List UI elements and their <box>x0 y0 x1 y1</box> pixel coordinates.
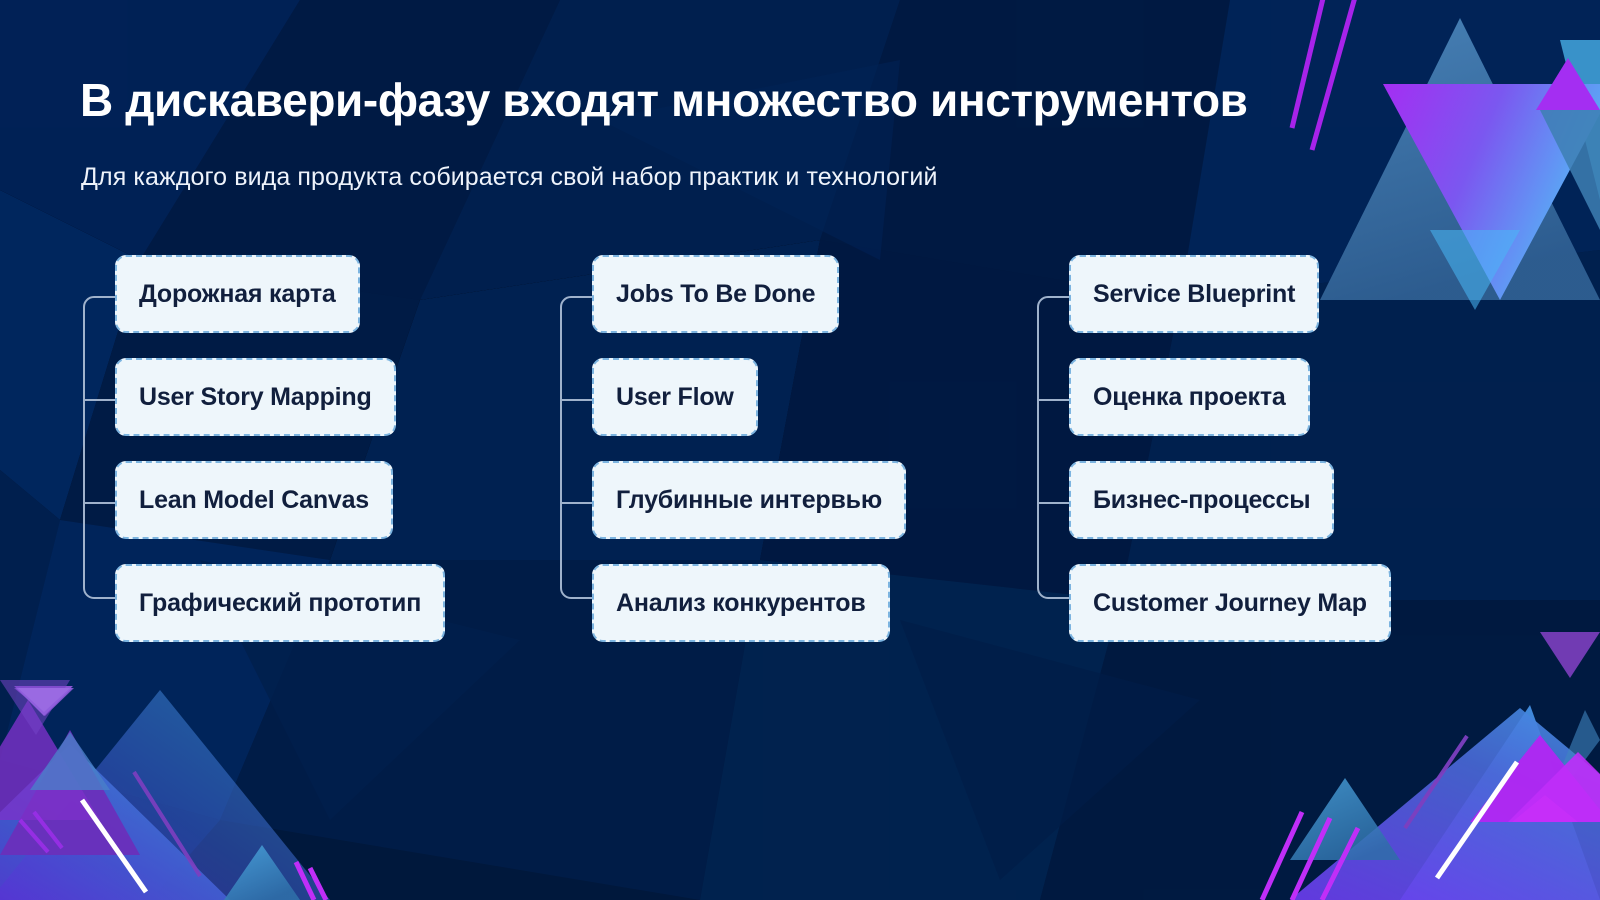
card-row: User Flow <box>592 358 906 436</box>
card-row: Дорожная карта <box>115 255 445 333</box>
card-row: Бизнес-процессы <box>1069 461 1391 539</box>
card-row: Глубинные интервью <box>592 461 906 539</box>
tool-card[interactable]: Оценка проекта <box>1069 358 1310 436</box>
tool-card[interactable]: Дорожная карта <box>115 255 360 333</box>
card-row: Оценка проекта <box>1069 358 1391 436</box>
tool-card[interactable]: User Flow <box>592 358 758 436</box>
bracket-connector-2 <box>557 255 597 600</box>
card-row: Графический прототип <box>115 564 445 642</box>
card-row: Lean Model Canvas <box>115 461 445 539</box>
card-row: User Story Mapping <box>115 358 445 436</box>
card-row: Jobs To Be Done <box>592 255 906 333</box>
tool-card[interactable]: Глубинные интервью <box>592 461 906 539</box>
bracket-connector-3 <box>1034 255 1074 600</box>
tool-card[interactable]: Lean Model Canvas <box>115 461 393 539</box>
tool-card[interactable]: Анализ конкурентов <box>592 564 890 642</box>
slide-content: В дискавери-фазу входят множество инстру… <box>0 0 1600 900</box>
card-row: Customer Journey Map <box>1069 564 1391 642</box>
tool-card[interactable]: User Story Mapping <box>115 358 396 436</box>
tool-card[interactable]: Service Blueprint <box>1069 255 1319 333</box>
slide-title: В дискавери-фазу входят множество инстру… <box>80 76 1248 124</box>
tool-card[interactable]: Customer Journey Map <box>1069 564 1391 642</box>
tool-card[interactable]: Бизнес-процессы <box>1069 461 1334 539</box>
slide: В дискавери-фазу входят множество инстру… <box>0 0 1600 900</box>
card-row: Анализ конкурентов <box>592 564 906 642</box>
bracket-connector-1 <box>80 255 120 600</box>
tool-card[interactable]: Jobs To Be Done <box>592 255 839 333</box>
card-row: Service Blueprint <box>1069 255 1391 333</box>
tool-card-list-1: Дорожная карта User Story Mapping Lean M… <box>115 255 445 642</box>
tool-card-list-2: Jobs To Be Done User Flow Глубинные инте… <box>592 255 906 642</box>
tool-card-list-3: Service Blueprint Оценка проекта Бизнес-… <box>1069 255 1391 642</box>
tool-card[interactable]: Графический прототип <box>115 564 445 642</box>
slide-subtitle: Для каждого вида продукта собирается сво… <box>81 163 938 192</box>
